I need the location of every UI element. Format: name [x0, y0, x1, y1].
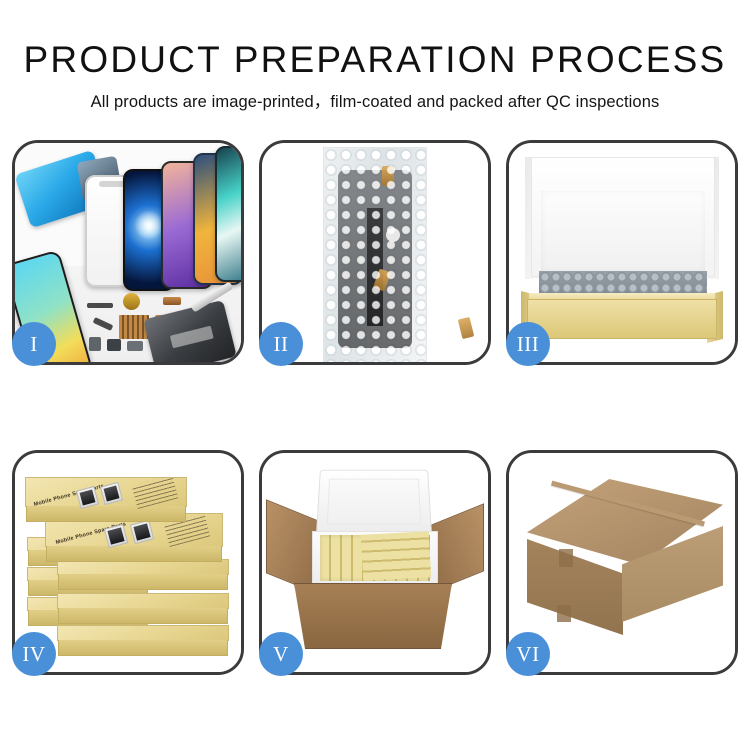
step-badge: II	[259, 322, 303, 366]
part-bracket-icon	[127, 341, 143, 351]
step-panel-2: II	[259, 140, 491, 365]
stacked-box-labelled: Mobile Phone Spare Parts	[25, 477, 187, 507]
step-panel-6: VI	[506, 450, 738, 675]
bubble-bag	[323, 147, 427, 362]
foam-sheet	[541, 191, 705, 273]
part-motor-icon	[107, 339, 121, 351]
packed-yellow-boxes	[361, 531, 431, 580]
part-flex-icon	[163, 297, 181, 305]
step-panel-5: V	[259, 450, 491, 675]
box-front	[527, 299, 717, 339]
step-badge: V	[259, 632, 303, 676]
flex-cable	[367, 208, 383, 326]
stacked-box	[57, 593, 229, 609]
process-steps-grid: I II III	[12, 140, 738, 675]
part-speaker-icon	[87, 303, 113, 308]
stacked-box	[57, 625, 229, 641]
tape-strip	[458, 317, 474, 339]
page-subtitle: All products are image-printed，film-coat…	[0, 91, 750, 113]
step-badge: IV	[12, 632, 56, 676]
carton-tape	[557, 605, 571, 622]
step-badge: III	[506, 322, 550, 366]
part-camera-icon	[89, 337, 101, 351]
tape-strip	[382, 166, 394, 186]
step-panel-3: III	[506, 140, 738, 365]
part-antenna-icon	[93, 317, 114, 331]
step-badge: I	[12, 322, 56, 366]
step-panel-1: I	[12, 140, 244, 365]
connector	[386, 228, 400, 242]
page-title: PRODUCT PREPARATION PROCESS	[0, 38, 750, 82]
part-vibrator-icon	[123, 293, 140, 310]
step-panel-4: Mobile Phone Spare Parts Mobile Phone Sp…	[12, 450, 244, 675]
step-badge: VI	[506, 632, 550, 676]
carton-front	[294, 583, 452, 649]
foam-lid	[316, 470, 432, 535]
box-stack: Mobile Phone Spare Parts Mobile Phone Sp…	[23, 467, 235, 667]
phone-screen-teal-icon	[215, 146, 241, 282]
carton-tape	[559, 549, 573, 567]
page-header: PRODUCT PREPARATION PROCESS All products…	[0, 0, 750, 113]
